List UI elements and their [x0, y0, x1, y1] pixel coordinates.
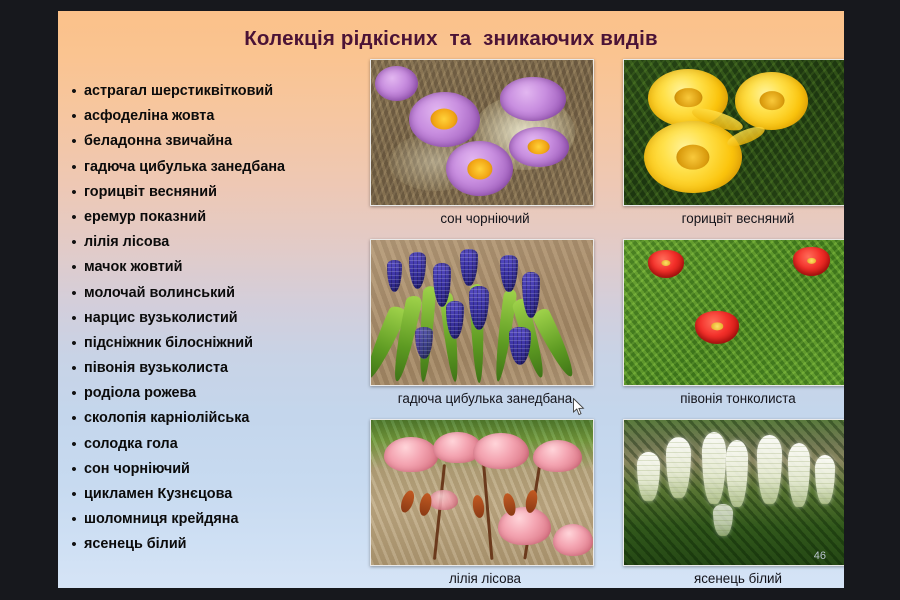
peony-flower: [648, 250, 684, 278]
screen: Колекція рідкісних та зникаючих видів •а…: [0, 0, 900, 600]
list-item: •підсніжник білосніжний: [64, 332, 364, 357]
list-item: •еремур показний: [64, 206, 364, 231]
list-item: •ясенець білий: [64, 533, 364, 558]
pasque-flower: [509, 127, 569, 168]
list-item-label: асфоделіна жовта: [84, 105, 214, 128]
photo-caption: сон чорніючий: [370, 211, 600, 226]
dittany-spike: [637, 452, 659, 501]
list-item-label: астрагал шерстиквітковий: [84, 80, 273, 103]
dittany-spike: [757, 435, 781, 505]
bullet-icon: •: [64, 508, 84, 531]
pasque-flower: [409, 92, 480, 147]
photo-cell-3: гадюча цибулька занедбана: [370, 239, 600, 406]
list-item: •півонія вузьколиста: [64, 357, 364, 382]
list-item-label: підсніжник білосніжний: [84, 332, 253, 355]
bullet-icon: •: [64, 130, 84, 153]
lily-flower: [533, 440, 582, 472]
bullet-icon: •: [64, 332, 84, 355]
list-item: •лілія лісова: [64, 231, 364, 256]
bullet-icon: •: [64, 231, 84, 254]
list-item: •астрагал шерстиквітковий: [64, 80, 364, 105]
photo-caption: ясенець білий: [623, 571, 844, 586]
list-item-label: гадюча цибулька занедбана: [84, 156, 285, 179]
list-item: •родіола рожева: [64, 382, 364, 407]
list-item: •горицвіт весняний: [64, 181, 364, 206]
list-item: •мачок жовтий: [64, 256, 364, 281]
lily-flower: [429, 490, 458, 510]
species-list: •астрагал шерстиквітковий •асфоделіна жо…: [64, 80, 364, 559]
lily-flower: [498, 507, 551, 545]
photo-caption: гадюча цибулька занедбана: [370, 391, 600, 406]
list-item-label: лілія лісова: [84, 231, 169, 254]
bullet-icon: •: [64, 357, 84, 380]
photo-caption: лілія лісова: [370, 571, 600, 586]
bullet-icon: •: [64, 105, 84, 128]
list-item-label: мачок жовтий: [84, 256, 182, 279]
photo-white-dittany-spikes: [623, 419, 844, 566]
bullet-icon: •: [64, 256, 84, 279]
list-item-label: беладонна звичайна: [84, 130, 232, 153]
photo-red-peonies: [623, 239, 844, 386]
bullet-icon: •: [64, 156, 84, 179]
list-item-label: нарцис вузьколистий: [84, 307, 238, 330]
bullet-icon: •: [64, 282, 84, 305]
lily-flower: [384, 437, 437, 472]
page-title: Колекція рідкісних та зникаючих видів: [58, 27, 844, 51]
bullet-icon: •: [64, 458, 84, 481]
list-item: •солодка гола: [64, 433, 364, 458]
photo-cell-5: лілія лісова: [370, 419, 600, 586]
bullet-icon: •: [64, 533, 84, 556]
lily-flower: [473, 433, 529, 469]
list-item-label: сон чорніючий: [84, 458, 190, 481]
pasque-flower: [375, 66, 417, 101]
photo-cell-2: горицвіт весняний: [623, 59, 844, 226]
bullet-icon: •: [64, 206, 84, 229]
photo-caption: півонія тонколиста: [623, 391, 844, 406]
photo-caption: горицвіт весняний: [623, 211, 844, 226]
adonis-flower: [644, 121, 742, 194]
list-item-label: цикламен Кузнєцова: [84, 483, 232, 506]
photo-cell-1: сон чорніючий: [370, 59, 600, 226]
list-item: •сколопія карніолійська: [64, 407, 364, 432]
lily-flower: [553, 524, 593, 556]
photo-blue-grape-hyacinths: [370, 239, 594, 386]
list-item-label: горицвіт весняний: [84, 181, 217, 204]
photo-cell-6: ясенець білий: [623, 419, 844, 586]
list-item-label: півонія вузьколиста: [84, 357, 228, 380]
bullet-icon: •: [64, 407, 84, 430]
list-item: •цикламен Кузнєцова: [64, 483, 364, 508]
bullet-icon: •: [64, 483, 84, 506]
dittany-spike: [713, 504, 733, 536]
photo-pink-martagon-lilies: [370, 419, 594, 566]
list-item-label: ясенець білий: [84, 533, 187, 556]
photo-cell-4: півонія тонколиста: [623, 239, 844, 406]
photo-purple-pasque-flowers: [370, 59, 594, 206]
bullet-icon: •: [64, 181, 84, 204]
list-item: •шоломниця крейдяна: [64, 508, 364, 533]
list-item: •асфоделіна жовта: [64, 105, 364, 130]
list-item-label: молочай волинський: [84, 282, 235, 305]
bullet-icon: •: [64, 80, 84, 103]
pasque-flower: [446, 141, 513, 196]
bullet-icon: •: [64, 433, 84, 456]
list-item: •нарцис вузьколистий: [64, 307, 364, 332]
pasque-flower: [500, 77, 567, 121]
list-item-label: шоломниця крейдяна: [84, 508, 238, 531]
adonis-flower: [735, 72, 808, 130]
list-item-label: солодка гола: [84, 433, 178, 456]
page-number: 46: [814, 550, 826, 562]
bullet-icon: •: [64, 307, 84, 330]
list-item-label: родіола рожева: [84, 382, 196, 405]
photo-yellow-adonis-flowers: [623, 59, 844, 206]
list-item: •гадюча цибулька занедбана: [64, 156, 364, 181]
bullet-icon: •: [64, 382, 84, 405]
list-item: •беладонна звичайна: [64, 130, 364, 155]
presentation-slide: Колекція рідкісних та зникаючих видів •а…: [58, 11, 844, 588]
list-item-label: сколопія карніолійська: [84, 407, 249, 430]
dittany-spike: [666, 437, 690, 498]
list-item: •молочай волинський: [64, 282, 364, 307]
list-item-label: еремур показний: [84, 206, 206, 229]
list-item: •сон чорніючий: [64, 458, 364, 483]
